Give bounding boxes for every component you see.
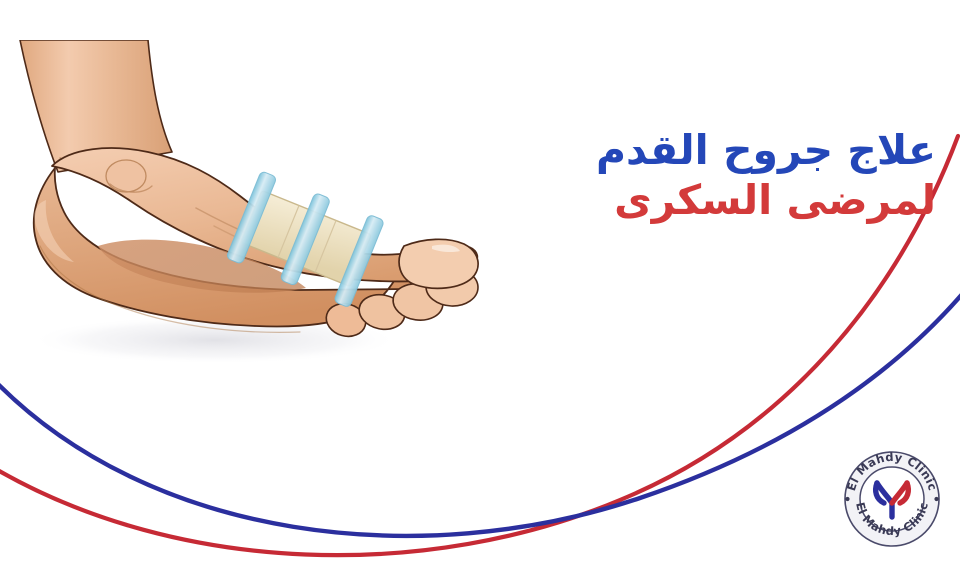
logo-dot-left — [845, 497, 849, 501]
headline-line-1: علاج جروح القدم — [506, 128, 936, 172]
ankle-bone-bump — [106, 160, 146, 192]
headline-block: علاج جروح القدم لمرضى السكرى — [506, 128, 936, 223]
headline-line-2: لمرضى السكرى — [506, 178, 936, 222]
logo-dot-right — [934, 497, 938, 501]
bandaged-foot-illustration — [0, 40, 500, 390]
el-mahdy-clinic-logo[interactable]: El Mahdy Clinic El Mahdy Clinic — [836, 443, 948, 555]
poster-canvas: علاج جروح القدم لمرضى السكرى El Mahdy Cl… — [0, 0, 960, 567]
